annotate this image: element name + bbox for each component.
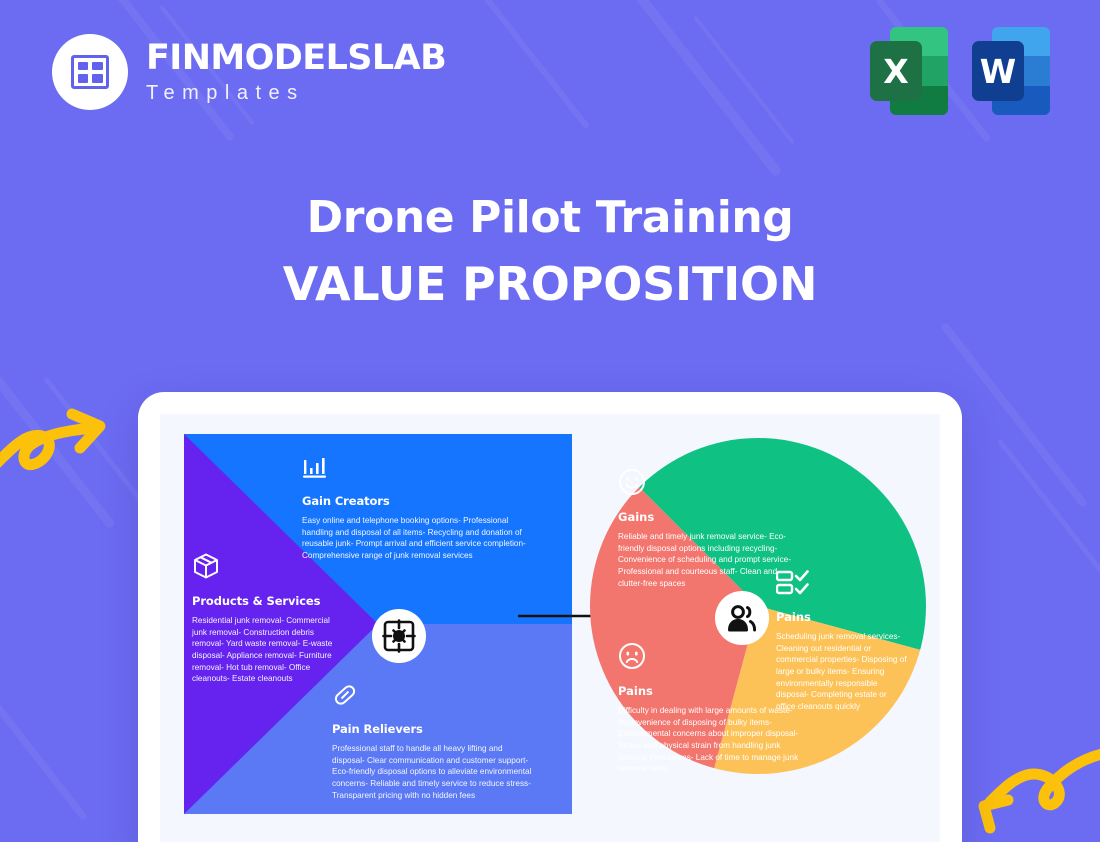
slide-canvas: FINMODELSLAB Templates X W Drone Pilot T… xyxy=(0,0,1100,842)
value-map-block-pain-relievers: Pain Relievers Professional staff to han… xyxy=(332,682,532,801)
brand-lockup: FINMODELSLAB Templates xyxy=(52,34,446,110)
brand-tagline: Templates xyxy=(146,83,446,103)
block-body: Professional staff to handle all heavy l… xyxy=(332,743,532,801)
page-subtitle: VALUE PROPOSITION xyxy=(0,257,1100,311)
profile-block-pains: Pains Difficulty in dealing with large a… xyxy=(618,642,806,775)
drone-icon xyxy=(382,619,416,653)
pill-capsule-icon xyxy=(332,682,532,713)
brush-streak xyxy=(43,376,152,513)
brush-streak xyxy=(940,322,1088,508)
bar-chart-icon xyxy=(302,456,530,485)
word-file-icon[interactable]: W xyxy=(972,27,1050,115)
excel-file-icon[interactable]: X xyxy=(870,27,948,115)
brush-streak xyxy=(456,0,590,130)
file-format-badges: X W xyxy=(870,27,1050,115)
brush-streak xyxy=(0,659,88,821)
block-heading: Pains xyxy=(618,684,806,698)
block-heading: Gains xyxy=(618,510,794,524)
block-heading: Products & Services xyxy=(192,594,342,608)
value-map-block-products-services: Products & Services Residential junk rem… xyxy=(192,552,342,685)
block-heading: Pains xyxy=(776,610,908,624)
sad-face-icon xyxy=(618,642,806,675)
customer-profile-hub xyxy=(715,591,769,645)
brush-streak xyxy=(997,439,1100,592)
block-heading: Gain Creators xyxy=(302,494,530,508)
brush-streak xyxy=(627,0,783,178)
block-heading: Pain Relievers xyxy=(332,722,532,736)
value-map-hub xyxy=(372,609,426,663)
value-map-block-gain-creators: Gain Creators Easy online and telephone … xyxy=(302,456,530,562)
title-block: Drone Pilot Training VALUE PROPOSITION xyxy=(0,192,1100,311)
people-group-icon xyxy=(726,603,758,633)
excel-file-letter: X xyxy=(870,41,922,101)
smiley-face-icon xyxy=(618,468,794,501)
squiggly-arrow-down-left-icon xyxy=(956,736,1100,842)
profile-block-gains: Gains Reliable and timely junk removal s… xyxy=(618,468,794,589)
device-frame: Gain Creators Easy online and telephone … xyxy=(138,392,962,842)
page-title: Drone Pilot Training xyxy=(0,192,1100,243)
value-map-panel: Gain Creators Easy online and telephone … xyxy=(184,434,572,814)
checklist-icon xyxy=(776,570,908,601)
squiggly-arrow-up-right-icon xyxy=(0,404,126,489)
slide-artboard: Gain Creators Easy online and telephone … xyxy=(160,414,940,842)
block-body: Residential junk removal- Commercial jun… xyxy=(192,615,342,685)
block-body: Difficulty in dealing with large amounts… xyxy=(618,705,806,775)
block-body: Reliable and timely junk removal service… xyxy=(618,531,794,589)
brush-streak xyxy=(693,16,795,145)
brand-name: FINMODELSLAB xyxy=(146,41,446,76)
word-file-letter: W xyxy=(972,41,1024,101)
customer-profile-panel: Gains Reliable and timely junk removal s… xyxy=(572,424,928,824)
brush-streak xyxy=(0,351,116,530)
package-box-icon xyxy=(192,552,342,585)
grid-logo-icon xyxy=(52,34,128,110)
